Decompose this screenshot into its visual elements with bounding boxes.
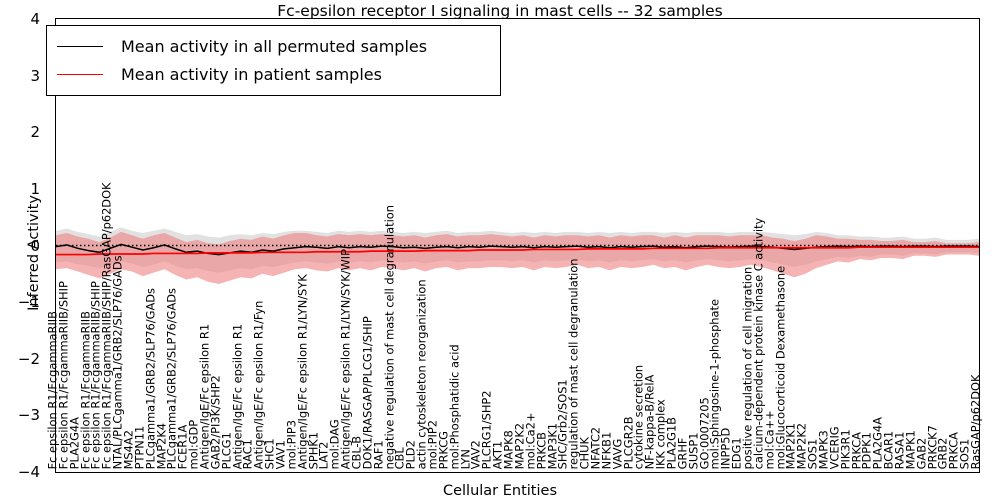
x-category-label: RasGAP/p62DOK: [971, 374, 982, 469]
y-tick-label: −2: [0, 350, 40, 368]
legend-line-swatch-permuted: [57, 46, 103, 47]
legend-line-swatch-patient: [57, 74, 103, 75]
y-tick-label: 1: [0, 180, 40, 198]
y-tick-label: −3: [0, 406, 40, 424]
legend-label-patient: Mean activity in patient samples: [121, 65, 382, 84]
y-tick-label: 2: [0, 123, 40, 141]
x-category-label: negative regulation of mast cell degranu…: [384, 205, 395, 469]
chart-root: Fc-epsilon receptor I signaling in mast …: [0, 0, 1000, 500]
y-tick-label: 0: [0, 237, 40, 255]
y-tick-label: 3: [0, 67, 40, 85]
legend-item-patient: Mean activity in patient samples: [57, 60, 490, 88]
y-tick-label: −4: [0, 463, 40, 481]
y-tick-label: 4: [0, 10, 40, 28]
legend-item-permuted: Mean activity in all permuted samples: [57, 32, 490, 60]
legend-label-permuted: Mean activity in all permuted samples: [121, 37, 427, 56]
y-tick-label: −1: [0, 293, 40, 311]
chart-legend: Mean activity in all permuted samples Me…: [46, 25, 501, 96]
